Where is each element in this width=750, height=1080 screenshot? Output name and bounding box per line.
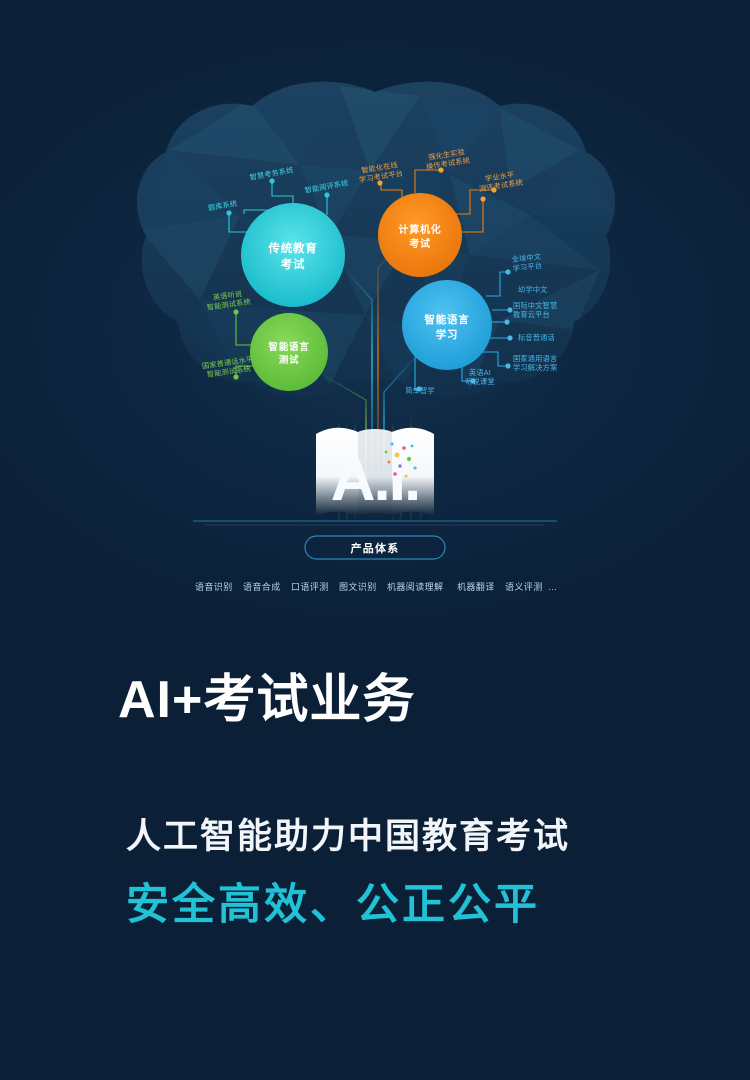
ai-logo-text: A.I. [331,445,419,514]
subtitle: 人工智能助力中国教育考试 [126,813,678,860]
tag-machine-translation[interactable]: 机器翻译 [457,581,495,592]
poster-root: 传统教育 考试 计算机化 考试 智能语言 测试 智能语言 学习 题库系统 [0,0,750,1080]
node-english-ai-listening-speaking-class: 英语AI 听说课堂 [465,368,495,386]
svg-text:听说课堂: 听说课堂 [465,377,495,386]
ground-line [193,521,557,525]
tag-semantic-assessment[interactable]: 语义评测 [505,582,543,592]
svg-text:学习解决方案: 学习解决方案 [513,363,557,372]
svg-text:英语AI: 英语AI [469,368,491,377]
hub-intelligent-language-test[interactable]: 智能语言 测试 [250,313,328,391]
node-global-chinese-learning-platform: 全球中文 学习平台 [511,252,542,273]
svg-text:教育云平台: 教育云平台 [513,310,550,319]
hero-illustration: 传统教育 考试 计算机化 考试 智能语言 测试 智能语言 学习 题库系统 [0,0,750,640]
tag-oral-assessment[interactable]: 口语评测 [291,582,329,592]
tag-image-text-recognition[interactable]: 图文识别 [339,581,377,592]
node-early-chinese-learning: 幼学中文 [518,285,548,294]
svg-text:国家通用语言: 国家通用语言 [513,354,557,363]
product-system-pill[interactable]: 产品体系 [305,536,445,559]
tagline: 安全高效、公正公平 [126,878,678,934]
node-national-language-learning-solution: 国家通用语言 学习解决方案 [513,354,557,372]
hub-label-line1: 智能语言 [268,341,309,353]
tag-more-ellipsis[interactable]: … [548,582,557,592]
tag-speech-recognition[interactable]: 语音识别 [195,581,233,592]
hub-label-line2: 考试 [281,257,306,271]
hub-label-line2: 学习 [436,328,459,341]
capability-tag-row: 语音识别 语音合成 口语评测 图文识别 机器阅读理解 机器翻译 语义评测 … [195,581,557,592]
page-title: AI+考试业务 [118,672,678,729]
ai-book-logo: A.I. [316,418,434,525]
svg-text:国际中文智慧: 国际中文智慧 [513,301,557,310]
tag-machine-reading-comprehension[interactable]: 机器阅读理解 [387,581,443,592]
tag-speech-synthesis[interactable]: 语音合成 [243,581,281,592]
hub-intelligent-language-learning[interactable]: 智能语言 学习 [402,280,492,370]
copy-block: AI+考试业务 人工智能助力中国教育考试 安全高效、公正公平 [118,672,678,934]
hub-label-line1: 传统教育 [267,241,317,255]
node-easy-smart-learning: 简单智学 [405,386,435,395]
hub-label-line2: 测试 [279,354,300,366]
node-standard-putonghua: 标音普通话 [518,333,555,342]
hub-label-line1: 智能语言 [423,313,469,326]
product-system-label: 产品体系 [351,541,400,555]
hub-label-line1: 计算机化 [398,223,441,236]
hub-label-line2: 考试 [409,237,431,250]
subcopy-block: 人工智能助力中国教育考试 安全高效、公正公平 [118,813,678,934]
hub-computerized-exam[interactable]: 计算机化 考试 [378,193,462,277]
hub-traditional-education-exam[interactable]: 传统教育 考试 [241,203,345,307]
brain-silhouette [120,82,615,398]
